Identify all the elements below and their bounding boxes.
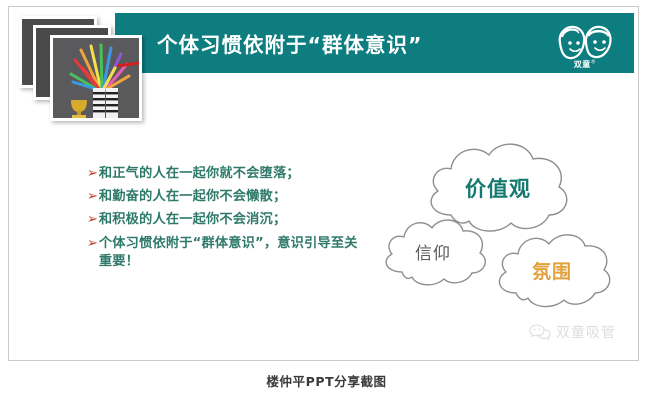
list-item: ➢ 个体习惯依附于“群体意识”，意识引导至关重要！ — [87, 235, 365, 271]
straw-product-photo-front — [50, 35, 142, 121]
list-item: ➢ 和勤奋的人在一起你不会懒散； — [87, 188, 365, 206]
registered-mark: ® — [591, 59, 597, 65]
watermark-text: 双童吸管 — [556, 322, 616, 342]
bullet-text: 和正气的人在一起你就不会堕落； — [99, 165, 300, 183]
bullet-text: 和勤奋的人在一起你不会懒散； — [99, 188, 286, 206]
slide-title: 个体习惯依附于“群体意识” — [157, 28, 422, 58]
arrow-bullet-icon: ➢ — [87, 211, 98, 229]
cloud-label: 氛围 — [485, 257, 619, 284]
cloud-label: 信仰 — [374, 239, 492, 264]
photo-image — [53, 38, 139, 118]
list-item: ➢ 和积极的人在一起你不会消沉； — [87, 211, 365, 229]
list-item: ➢ 和正气的人在一起你就不会堕落； — [87, 165, 365, 183]
slide-frame: 个体习惯依附于“群体意识” — [8, 6, 639, 361]
brand-logo: 双童® — [548, 19, 622, 71]
brand-name-text: 双童 — [574, 60, 591, 69]
watermark: 双童吸管 — [529, 322, 616, 342]
cloud-atmosphere: 氛围 — [485, 225, 619, 317]
cloud-label: 价值观 — [413, 173, 583, 203]
arrow-bullet-icon: ➢ — [87, 165, 98, 183]
bullet-text: 个体习惯依附于“群体意识”，意识引导至关重要！ — [99, 235, 365, 271]
bullet-list: ➢ 和正气的人在一起你就不会堕落； ➢ 和勤奋的人在一起你不会懒散； ➢ 和积极… — [87, 165, 365, 276]
arrow-bullet-icon: ➢ — [87, 235, 98, 253]
photo-thumbnail-stack — [19, 16, 149, 121]
cloud-belief: 信仰 — [374, 212, 492, 292]
caption: 楼仲平PPT分享截图 — [0, 371, 653, 390]
arrow-bullet-icon: ➢ — [87, 188, 98, 206]
wechat-icon — [529, 323, 551, 341]
slide-title-bar: 个体习惯依附于“群体意识” — [113, 11, 636, 75]
brand-logo-name: 双童® — [548, 59, 622, 70]
bullet-text: 和积极的人在一起你不会消沉； — [99, 211, 286, 229]
